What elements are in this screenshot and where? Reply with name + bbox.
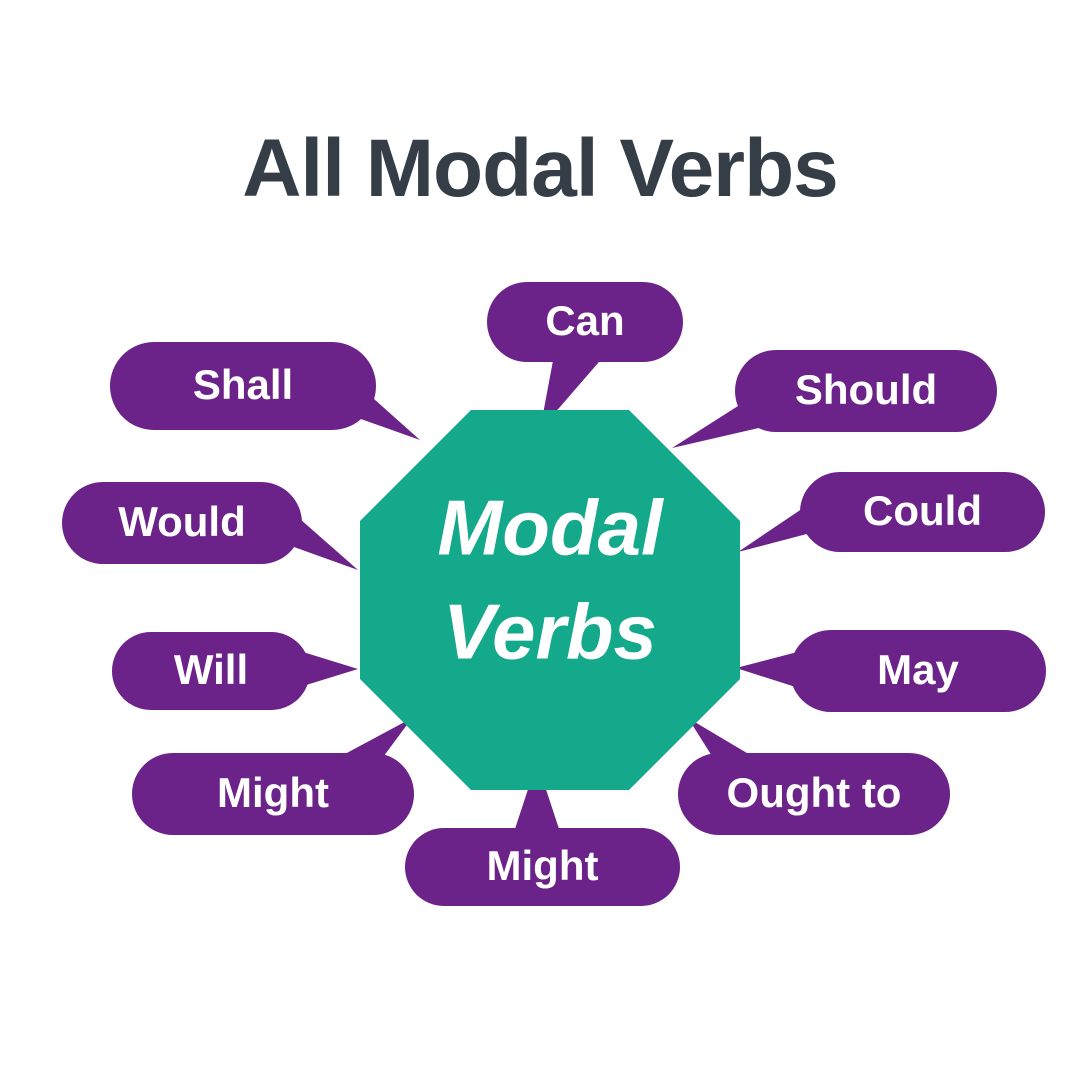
- bubble-can[interactable]: Can: [487, 282, 683, 362]
- bubble-label-shall: Shall: [193, 361, 293, 408]
- bubble-label-could: Could: [863, 487, 982, 534]
- bubble-may[interactable]: May: [790, 630, 1046, 712]
- bubble-should[interactable]: Should: [735, 350, 997, 432]
- center-label-line1: Modal: [437, 484, 664, 572]
- bubble-could[interactable]: Could: [800, 472, 1045, 552]
- center-node[interactable]: Modal Verbs: [360, 410, 740, 790]
- bubble-label-ought-to: Ought to: [727, 769, 902, 816]
- bubble-ought-to[interactable]: Ought to: [678, 753, 950, 835]
- bubble-label-will: Will: [174, 646, 248, 693]
- bubble-label-can: Can: [545, 297, 624, 344]
- bubble-shall[interactable]: Shall: [110, 342, 376, 430]
- modal-verbs-diagram: Modal Verbs Can Shall Should Would: [0, 0, 1080, 1080]
- bubble-label-would: Would: [118, 498, 246, 545]
- bubble-might-left[interactable]: Might: [132, 753, 414, 835]
- bubble-label-may: May: [877, 646, 959, 693]
- bubble-will[interactable]: Will: [112, 632, 310, 710]
- bubble-label-should: Should: [795, 366, 937, 413]
- bubble-might-bottom[interactable]: Might: [405, 828, 680, 906]
- bubble-would[interactable]: Would: [62, 482, 302, 564]
- bubble-label-might-left: Might: [217, 769, 329, 816]
- diagram-canvas: All Modal Verbs Modal Verbs Can: [0, 0, 1080, 1080]
- bubble-label-might-bottom: Might: [487, 842, 599, 889]
- center-label-line2: Verbs: [443, 588, 657, 676]
